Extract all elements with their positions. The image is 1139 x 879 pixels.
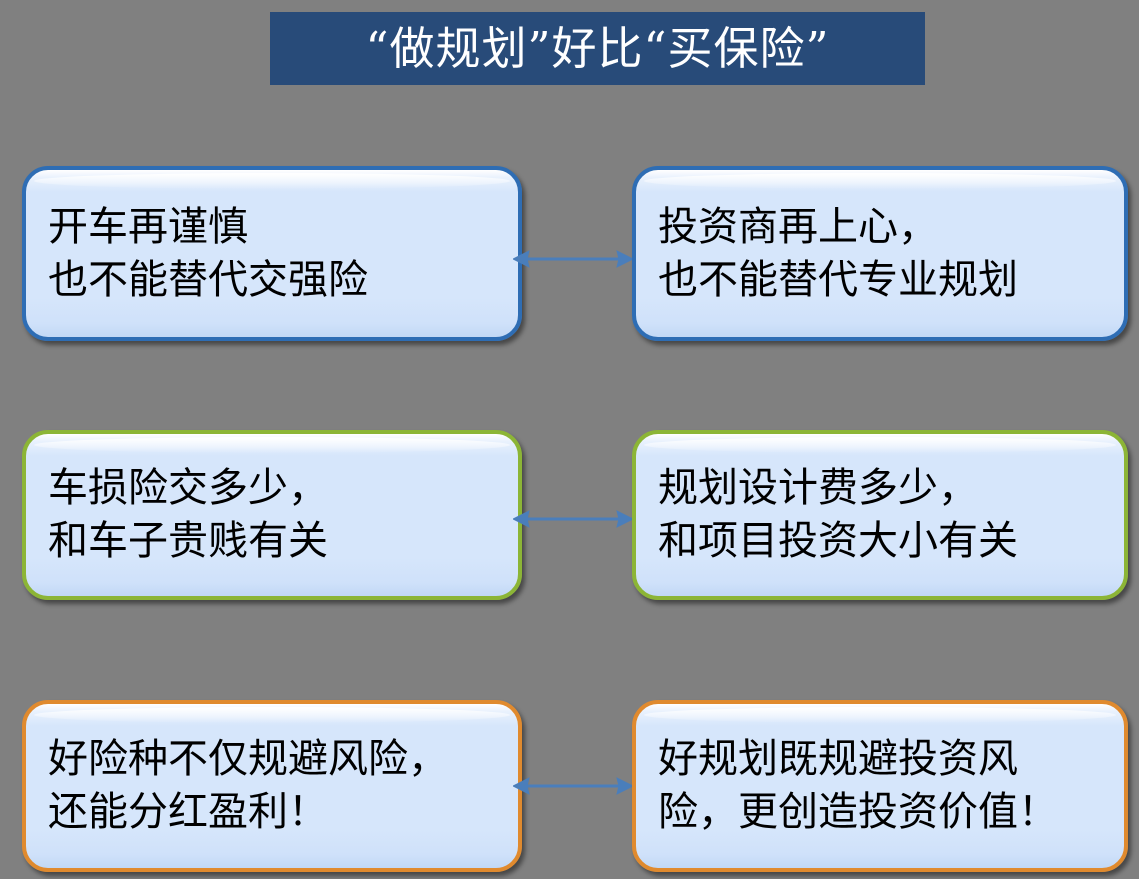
callout-box-row1-left[interactable]: 开车再谨慎 也不能替代交强险 <box>22 166 522 341</box>
callout-text: 好险种不仅规避风险， 还能分红盈利！ <box>26 733 458 839</box>
callout-text: 车损险交多少， 和车子贵贱有关 <box>26 462 338 568</box>
title-banner: “做规划”好比“买保险” <box>270 12 925 85</box>
callout-box-row3-left[interactable]: 好险种不仅规避风险， 还能分红盈利！ <box>22 700 522 872</box>
callout-box-row3-right[interactable]: 好规划既规避投资风 险，更创造投资价值！ <box>632 700 1128 872</box>
slide-canvas: “做规划”好比“买保险” 开车再谨慎 也不能替代交强险 投资商再上心， 也不能替… <box>0 0 1139 879</box>
callout-box-row2-right[interactable]: 规划设计费多少， 和项目投资大小有关 <box>632 430 1128 600</box>
callout-text: 投资商再上心， 也不能替代专业规划 <box>636 201 1028 307</box>
callout-text: 规划设计费多少， 和项目投资大小有关 <box>636 462 1028 568</box>
connector-arrow-row3 <box>513 772 633 800</box>
connector-arrow-row1 <box>513 245 633 273</box>
callout-box-row1-right[interactable]: 投资商再上心， 也不能替代专业规划 <box>632 166 1128 341</box>
callout-text: 开车再谨慎 也不能替代交强险 <box>26 201 378 307</box>
connector-arrow-row2 <box>513 505 633 533</box>
callout-text: 好规划既规避投资风 险，更创造投资价值！ <box>636 733 1068 839</box>
callout-box-row2-left[interactable]: 车损险交多少， 和车子贵贱有关 <box>22 430 522 600</box>
page-title: “做规划”好比“买保险” <box>365 26 829 71</box>
